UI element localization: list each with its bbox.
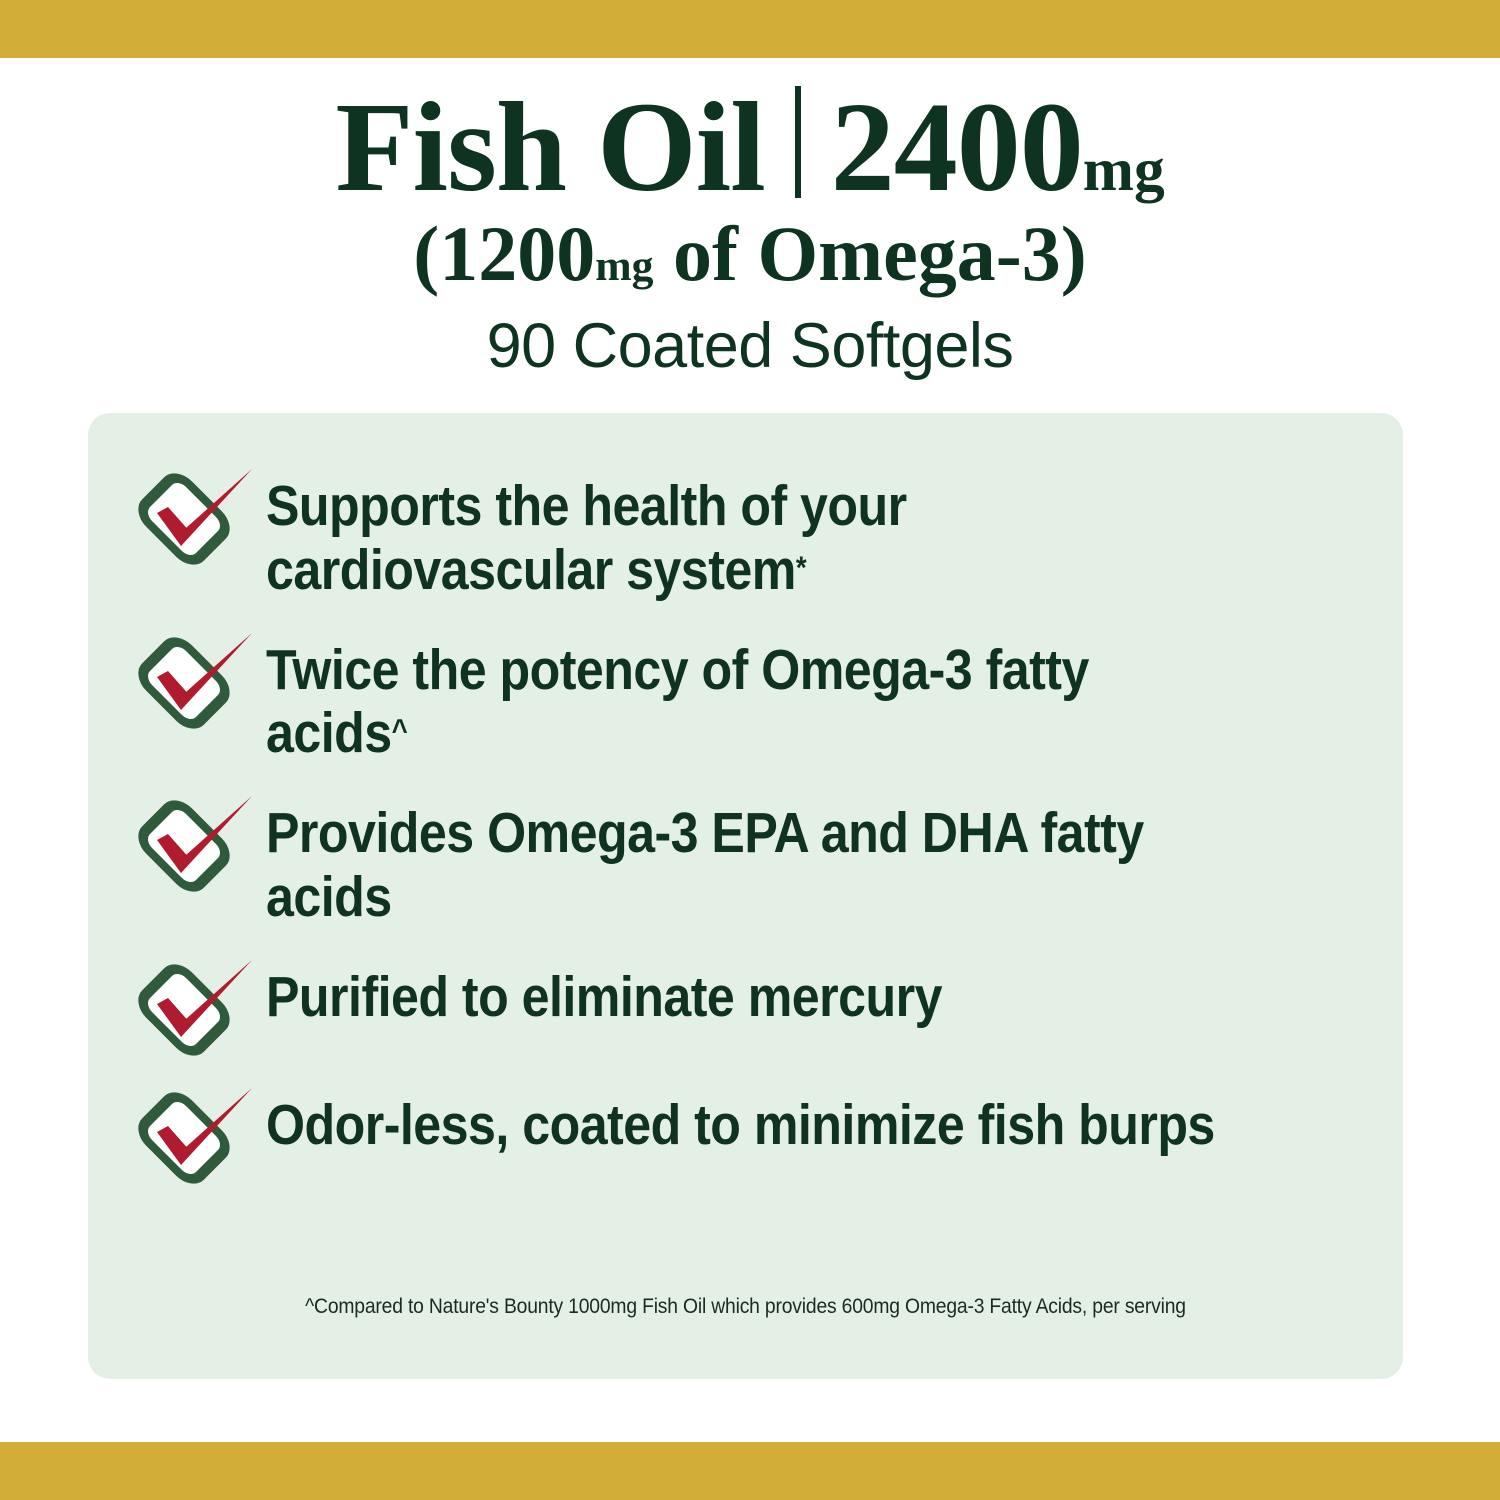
check-diamond-icon: [128, 463, 260, 567]
footnote: ^Compared to Nature's Bounty 1000mg Fish…: [141, 1295, 1351, 1319]
benefit-marker: *: [796, 550, 806, 585]
check-diamond-icon: [128, 627, 260, 731]
benefit-item: Purified to eliminate mercury: [128, 952, 1363, 1058]
benefit-text: Twice the potency of Omega-3 fatty acids…: [266, 625, 1231, 767]
benefit-item: Odor-less, coated to minimize fish burps: [128, 1080, 1363, 1186]
subtitle-amount: 1200: [439, 210, 595, 297]
check-diamond-icon: [128, 954, 260, 1058]
bottom-gold-bar: [0, 1442, 1500, 1500]
benefit-text: Provides Omega-3 EPA and DHA fatty acids: [266, 788, 1231, 930]
benefit-item: Supports the health of your cardiovascul…: [128, 461, 1363, 603]
subtitle-open-paren: (: [413, 210, 439, 297]
page-title: Fish Oil 2400mg: [0, 78, 1500, 211]
top-gold-bar: [0, 0, 1500, 58]
product-name: Fish Oil: [335, 83, 764, 211]
benefit-text: Odor-less, coated to minimize fish burps: [266, 1080, 1231, 1158]
subtitle-rest: of Omega-3): [654, 210, 1087, 297]
benefit-item: Twice the potency of Omega-3 fatty acids…: [128, 625, 1363, 767]
benefit-marker: ^: [392, 713, 408, 748]
check-diamond-icon: [128, 1082, 260, 1186]
benefit-item: Provides Omega-3 EPA and DHA fatty acids: [128, 788, 1363, 930]
benefit-text: Purified to eliminate mercury: [266, 952, 1231, 1030]
omega-subtitle: (1200mg of Omega-3): [0, 215, 1500, 293]
benefits-panel: Supports the health of your cardiovascul…: [88, 413, 1403, 1379]
softgel-count: 90 Coated Softgels: [0, 315, 1500, 378]
dose-unit: mg: [1083, 140, 1165, 201]
header: Fish Oil 2400mg (1200mg of Omega-3) 90 C…: [0, 78, 1500, 378]
title-separator-bar: [795, 86, 801, 198]
subtitle-unit: mg: [595, 242, 653, 290]
check-diamond-icon: [128, 790, 260, 894]
benefit-text: Supports the health of your cardiovascul…: [266, 461, 1231, 603]
product-feature-card: Fish Oil 2400mg (1200mg of Omega-3) 90 C…: [0, 0, 1500, 1500]
dose-amount: 2400: [831, 83, 1083, 211]
